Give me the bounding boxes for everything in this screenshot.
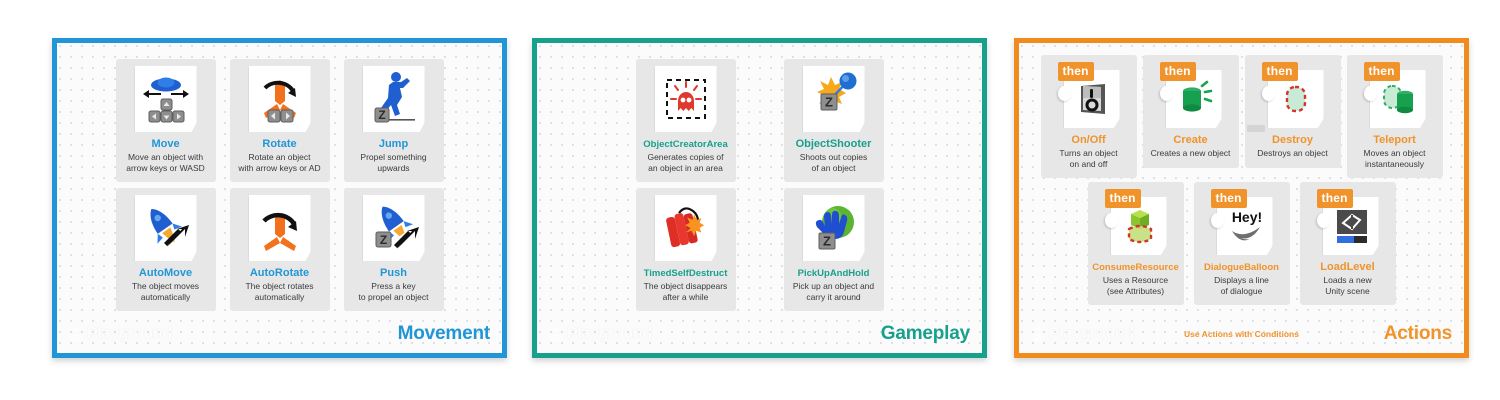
panel-gameplay: ObjectCreatorArea Generates copies ofan … — [532, 38, 987, 358]
pick-up-and-hold-icon: Z — [803, 195, 865, 261]
svg-text:Z: Z — [825, 95, 833, 110]
card-push[interactable]: Z Push Press a keyto propel an object — [344, 188, 444, 311]
card-dialogueballoon[interactable]: then Hey! DialogueBalloon Displays a lin… — [1194, 182, 1290, 305]
card-desc: Generates copies ofan object in an area — [647, 152, 723, 173]
movement-row-2: AutoMove The object movesautomatically — [57, 182, 502, 311]
then-badge: then — [1211, 189, 1247, 208]
sprite-sheet-board: Move Move an object witharrow keys or WA… — [0, 0, 1500, 400]
card-teleport[interactable]: then Teleport Moves an objec — [1347, 55, 1443, 178]
card-title: Move — [151, 138, 179, 151]
panel-footer: Playground Use Actions with Conditions A… — [1019, 319, 1464, 349]
gameplay-row-2: TimedSelfDestruct The object disappearsa… — [537, 182, 982, 311]
card-title: Destroy — [1272, 134, 1313, 147]
card-automove[interactable]: AutoMove The object movesautomatically — [116, 188, 216, 311]
card-desc: Uses a Resource(see Attributes) — [1103, 275, 1168, 296]
svg-text:Hey!: Hey! — [1231, 209, 1261, 225]
card-title: AutoMove — [139, 267, 192, 280]
actions-row-1: then On/Off Turns an objecto — [1019, 43, 1464, 178]
then-badge: then — [1160, 62, 1196, 81]
panel-label: Actions — [1384, 323, 1452, 345]
svg-text:Z: Z — [378, 108, 385, 122]
panel-actions: then On/Off Turns an objecto — [1014, 38, 1469, 358]
svg-text:Z: Z — [823, 234, 831, 249]
card-title: AutoRotate — [250, 267, 309, 280]
svg-text:Z: Z — [379, 233, 386, 247]
gameplay-row-1: ObjectCreatorArea Generates copies ofan … — [537, 43, 982, 182]
then-badge: then — [1262, 62, 1298, 81]
card-title: LoadLevel — [1320, 261, 1374, 274]
card-title: DialogueBalloon — [1204, 261, 1279, 274]
card-title: ObjectCreatorArea — [643, 138, 727, 151]
card-desc: Displays a lineof dialogue — [1214, 275, 1269, 296]
card-title: Jump — [379, 138, 408, 151]
movement-row-1: Move Move an object witharrow keys or WA… — [57, 43, 502, 182]
move-icon — [135, 66, 197, 132]
playground-watermark: Playground — [69, 325, 172, 343]
consume-resource-icon: then — [1105, 189, 1167, 255]
playground-logo-icon — [1031, 326, 1045, 342]
dialogue-balloon-icon: then Hey! — [1211, 189, 1273, 255]
card-move[interactable]: Move Move an object witharrow keys or WA… — [116, 59, 216, 182]
footer-note: Use Actions with Conditions — [1184, 329, 1299, 339]
card-pickupandhold[interactable]: Z PickUpAndHold Pick up an object andcar… — [784, 188, 884, 311]
object-shooter-icon: Z — [803, 66, 865, 132]
card-autorotate[interactable]: AutoRotate The object rotatesautomatical… — [230, 188, 330, 311]
then-badge: then — [1364, 62, 1400, 81]
card-desc: Creates a new object — [1151, 148, 1231, 159]
actions-row-2: then ConsumeResource Uses a — [1019, 178, 1464, 305]
card-jump[interactable]: Z Jump Propel somethingupwards — [344, 59, 444, 182]
then-badge: then — [1058, 62, 1094, 81]
panel-label: Gameplay — [881, 323, 970, 345]
card-title: ConsumeResource — [1092, 261, 1179, 274]
create-object-icon: then — [1160, 62, 1222, 128]
card-desc: Shoots out copiesof an object — [800, 152, 868, 173]
on-off-switch-icon: then — [1058, 62, 1120, 128]
object-creator-area-icon — [655, 66, 717, 132]
card-title: ObjectShooter — [796, 138, 872, 151]
teleport-object-icon: then — [1364, 62, 1426, 128]
card-create[interactable]: then — [1143, 55, 1239, 168]
then-badge: then — [1105, 189, 1141, 208]
card-title: TimedSelfDestruct — [644, 267, 728, 280]
card-desc: Rotate an objectwith arrow keys or AD — [238, 152, 320, 173]
then-badge: then — [1317, 189, 1353, 208]
card-onoff[interactable]: then On/Off Turns an objecto — [1041, 55, 1137, 178]
card-title: Rotate — [262, 138, 296, 151]
card-title: Push — [380, 267, 407, 280]
card-desc: Turns an objecton and off — [1059, 148, 1117, 169]
card-objectshooter[interactable]: Z ObjectShooter Shoots out copiesof an o… — [784, 59, 884, 182]
card-desc: The object disappearsafter a while — [644, 281, 728, 302]
watermark-text: Playground — [567, 325, 652, 343]
card-desc: Propel somethingupwards — [360, 152, 426, 173]
card-timedselfdestruct[interactable]: TimedSelfDestruct The object disappearsa… — [636, 188, 736, 311]
card-desc: Press a keyto propel an object — [359, 281, 429, 302]
card-desc: Loads a newUnity scene — [1323, 275, 1371, 296]
card-title: Create — [1173, 134, 1207, 147]
playground-watermark: Playground — [549, 325, 652, 343]
card-objectcreatorarea[interactable]: ObjectCreatorArea Generates copies ofan … — [636, 59, 736, 182]
panel-label: Movement — [398, 323, 490, 345]
card-title: Teleport — [1373, 134, 1416, 147]
card-title: PickUpAndHold — [798, 267, 870, 280]
card-consumeresource[interactable]: then ConsumeResource Uses a — [1088, 182, 1184, 305]
rotate-icon — [249, 66, 311, 132]
card-title: On/Off — [1071, 134, 1105, 147]
timed-self-destruct-icon — [655, 195, 717, 261]
load-level-icon: then — [1317, 189, 1379, 255]
playground-logo-icon — [549, 326, 563, 342]
watermark-text: Playground — [1049, 325, 1134, 343]
automove-icon — [135, 195, 197, 261]
card-desc: The object movesautomatically — [132, 281, 199, 302]
card-loadlevel[interactable]: then — [1300, 182, 1396, 305]
autorotate-icon — [249, 195, 311, 261]
watermark-text: Playground — [87, 325, 172, 343]
jump-icon: Z — [363, 66, 425, 132]
push-icon: Z — [363, 195, 425, 261]
card-rotate[interactable]: Rotate Rotate an objectwith arrow keys o… — [230, 59, 330, 182]
destroy-object-icon: then — [1262, 62, 1324, 128]
card-desc: Destroys an object — [1257, 148, 1327, 159]
playground-logo-icon — [69, 326, 83, 342]
card-desc: The object rotatesautomatically — [245, 281, 313, 302]
playground-watermark: Playground — [1031, 325, 1134, 343]
card-desc: Pick up an object andcarry it around — [793, 281, 874, 302]
panel-footer: Playground Gameplay — [537, 319, 982, 349]
card-desc: Move an object witharrow keys or WASD — [126, 152, 205, 173]
panel-movement: Move Move an object witharrow keys or WA… — [52, 38, 507, 358]
panel-footer: Playground Movement — [57, 319, 502, 349]
card-desc: Moves an objectinstantaneously — [1364, 148, 1426, 169]
card-destroy[interactable]: then Destroy Destroys an object — [1245, 55, 1341, 168]
